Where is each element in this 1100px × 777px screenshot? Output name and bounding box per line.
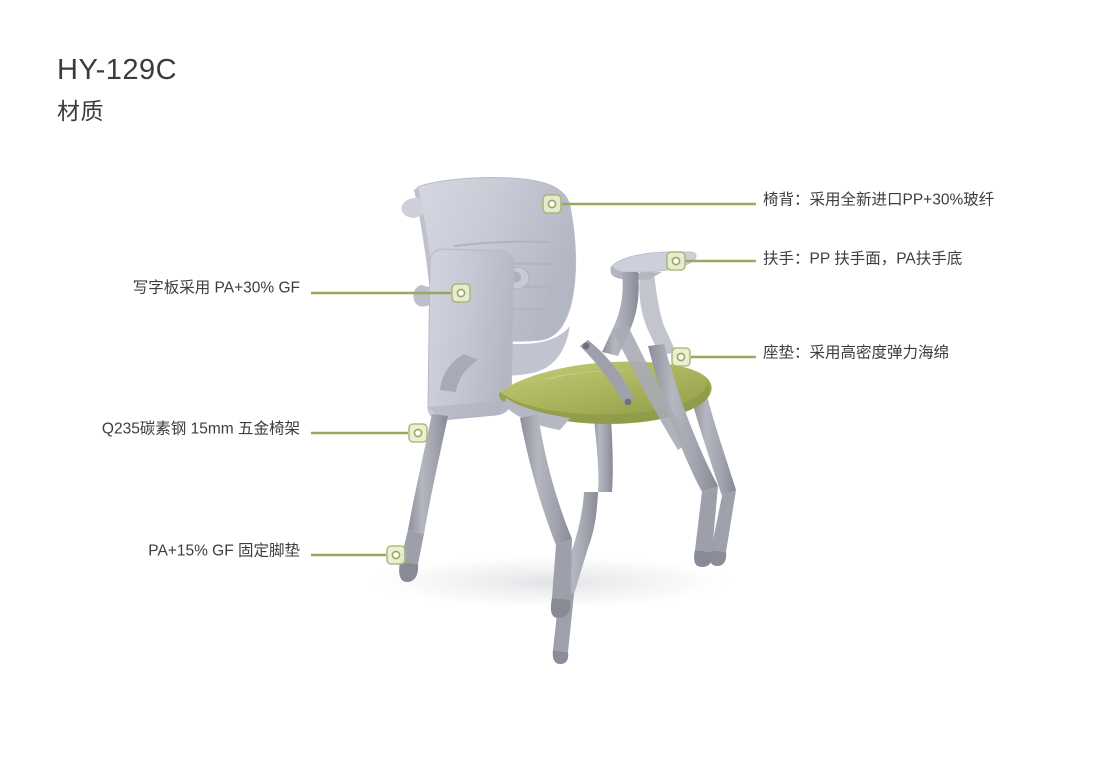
armrest bbox=[602, 252, 696, 356]
callout-label-armrest: 扶手：PP 扶手面，PA扶手底 bbox=[763, 251, 962, 267]
callout-label-steel-frame: Q235碳素钢 15mm 五金椅架 bbox=[102, 421, 300, 437]
callout-label-writing-tablet: 写字板采用 PA+30% GF bbox=[133, 280, 300, 296]
callout-label-seat-cushion: 座垫：采用高密度弹力海绵 bbox=[763, 345, 949, 361]
callout-label-backrest: 椅背：采用全新进口PP+30%玻纤 bbox=[763, 192, 994, 208]
callout-label-foot-glide: PA+15% GF 固定脚垫 bbox=[148, 543, 300, 559]
material-spec-page: HY-129C 材质 bbox=[0, 0, 1100, 777]
chair-illustration bbox=[0, 0, 1100, 777]
